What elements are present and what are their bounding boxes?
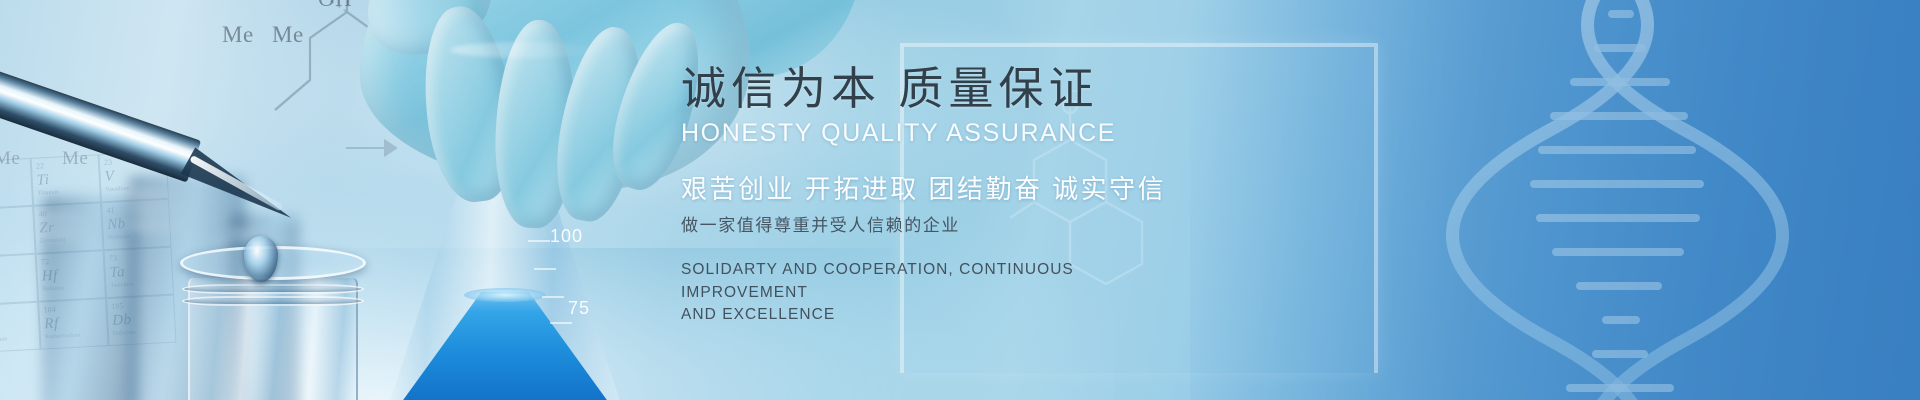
banner-footer-en: SOLIDARTY AND COOPERATION, CONTINUOUS IM… <box>681 259 1181 326</box>
periodic-cell: 71 Lu Lutetium <box>0 254 38 305</box>
lab-hero-banner: 21 Sc Scandium 22 Ti Titanium 23 V Vanad… <box>0 0 1920 400</box>
banner-slogan-cn-small: 做一家值得尊重并受人信赖的企业 <box>681 211 1401 236</box>
footer-line-1: SOLIDARTY AND COOPERATION, CONTINUOUS IM… <box>681 259 1181 304</box>
element-name: Lutetium <box>0 287 37 298</box>
element-name: Lawrencium <box>0 334 39 345</box>
formula-label-me: Me <box>222 22 254 48</box>
banner-copy: 诚信为本 质量保证 HONESTY QUALITY ASSURANCE 艰苦创业… <box>681 62 1401 327</box>
dna-double-helix-icon <box>1430 0 1850 400</box>
formula-label-me: Me <box>272 22 304 48</box>
banner-slogan-cn: 艰苦创业 开拓进取 团结勤奋 诚实守信 <box>681 169 1401 206</box>
banner-headline: 诚信为本 质量保证 <box>681 62 1401 115</box>
banner-subtitle-en: HONESTY QUALITY ASSURANCE <box>681 119 1401 148</box>
footer-line-2: AND EXCELLENCE <box>681 304 1181 326</box>
periodic-cell: 103 Lr Lawrencium <box>0 302 41 353</box>
flask-graduation-75: 75 <box>568 298 590 319</box>
